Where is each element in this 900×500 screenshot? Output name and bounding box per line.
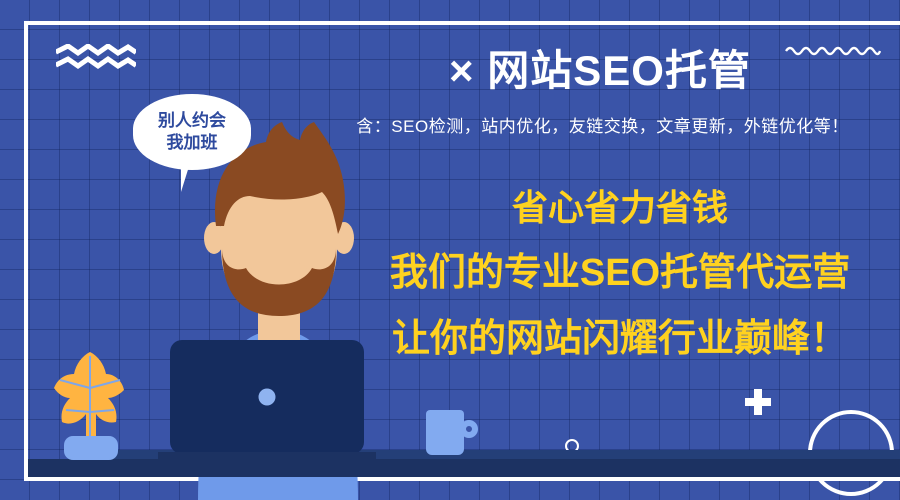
potted-plant: [52, 348, 130, 460]
speech-bubble-line-1: 别人约会: [158, 110, 226, 132]
speech-bubble: 别人约会 我加班: [133, 94, 251, 170]
laptop-base: [158, 452, 376, 461]
coffee-mug: [426, 410, 464, 455]
laptop: [170, 340, 364, 454]
laptop-logo-icon: [259, 389, 276, 406]
seo-promo-banner: 别人约会 我加班 × 网站SEO托管 含：SEO检测，站内优化，友链交换，文章更…: [0, 0, 900, 500]
speech-bubble-line-2: 我加班: [167, 132, 218, 154]
desk-edge: [28, 459, 900, 477]
